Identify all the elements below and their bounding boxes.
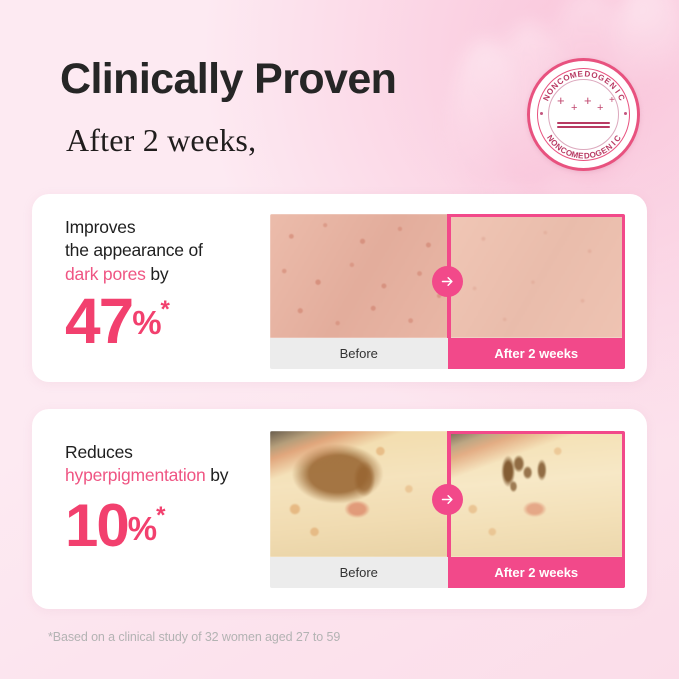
comparison-labels: Before After 2 weeks — [270, 557, 625, 588]
footnote: *Based on a clinical study of 32 women a… — [48, 630, 340, 644]
stat-percent-sign: % — [128, 512, 156, 545]
before-label: Before — [270, 338, 448, 369]
before-photo — [270, 431, 448, 557]
stat-line-3: hyperpigmentation by — [65, 464, 293, 487]
stat-value-group: 10 % * — [65, 498, 293, 553]
stat-value: 47 — [65, 292, 132, 351]
stat-asterisk: * — [156, 504, 165, 528]
arrow-right-icon — [432, 266, 463, 297]
page-title: Clinically Proven — [60, 57, 396, 102]
comparison-image-pigmentation: Before After 2 weeks — [270, 431, 625, 588]
stat-line-3: dark pores by — [65, 263, 280, 286]
badge-underline-icon — [557, 122, 610, 128]
stat-asterisk: * — [161, 298, 170, 322]
stat-suffix: by — [206, 465, 229, 485]
comparison-image-pores: Before After 2 weeks — [270, 214, 625, 369]
before-label: Before — [270, 557, 448, 588]
noncomedogenic-badge: NONCOMEDOGENIC NONCOMEDOGENIC + + + + + — [527, 58, 640, 171]
stat-line-1: Reduces — [65, 441, 293, 464]
before-photo — [270, 214, 448, 338]
comparison-labels: Before After 2 weeks — [270, 338, 625, 369]
stat-percent-sign: % — [132, 306, 160, 339]
stat-accent-term: hyperpigmentation — [65, 465, 206, 485]
stat-line-1: Improves — [65, 216, 280, 239]
after-label: After 2 weeks — [448, 557, 626, 588]
infographic-page: Clinically Proven After 2 weeks, NONCOME… — [0, 0, 679, 679]
stat-accent-term: dark pores — [65, 264, 146, 284]
stat-suffix: by — [146, 264, 169, 284]
after-label: After 2 weeks — [448, 338, 626, 369]
stat-text-block: Improves the appearance of dark pores by… — [65, 216, 280, 351]
sparkle-icon: + + + + + — [527, 94, 640, 120]
page-subtitle: After 2 weeks, — [66, 122, 256, 159]
stat-value-group: 47 % * — [65, 292, 280, 351]
arrow-right-icon — [432, 484, 463, 515]
after-photo — [448, 214, 626, 338]
stat-line-2: the appearance of — [65, 239, 280, 262]
after-photo — [448, 431, 626, 557]
stat-value: 10 — [65, 498, 128, 553]
stat-text-block: Reduces hyperpigmentation by 10 % * — [65, 441, 293, 553]
